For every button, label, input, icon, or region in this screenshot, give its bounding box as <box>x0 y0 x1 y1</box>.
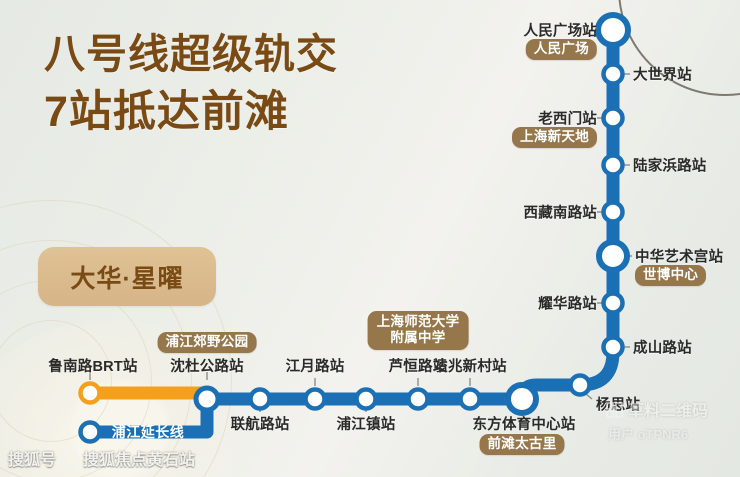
poi-badge-renmin-square: 人民广场 <box>526 39 597 60</box>
poi-badge-pujiang-country-park: 浦江郊野公园 <box>158 332 257 353</box>
station-label-oriental-sports-center: 东方体育中心站 <box>473 413 576 434</box>
station-label-renmin-square: 人民广场站 <box>524 20 598 41</box>
station-label-xizang-south-road: 西藏南路站 <box>524 202 598 223</box>
poi-badge-expo-centre: 世博中心 <box>635 265 706 286</box>
poi-badge-line-1: 上海师范大学 <box>377 314 460 330</box>
poi-badge-shnu-affiliated-school: 上海师范大学 附属中学 <box>368 311 469 350</box>
station-label-luheng-road: 芦恒路站 <box>389 355 448 376</box>
station-label-chengshan-road: 成山路站 <box>633 337 692 358</box>
pujiang-extension-label: 浦江延长线 <box>112 422 185 442</box>
poi-badge-taikoo-li: 前滩太古里 <box>480 434 565 455</box>
poi-badge-xintiandi: 上海新天地 <box>512 127 597 148</box>
station-label-laoximen: 老西门站 <box>538 108 597 129</box>
qr-watermark-title: 草料二维码 <box>628 397 708 421</box>
qr-watermark: 草料二维码 用户 oTPNR6 <box>606 397 708 443</box>
at-symbol-icon <box>60 449 79 468</box>
sohu-watermark-prefix: 搜狐号 <box>8 446 56 470</box>
infographic-canvas: 八号线超级轨交 7站抵达前滩 大华·星曜 <box>0 0 740 477</box>
station-label-shendu-highway: 沈杜公路站 <box>170 355 244 376</box>
sohu-watermark-suffix: 搜狐焦点黄石站 <box>83 446 195 470</box>
station-label-jiangyue-road: 江月路站 <box>286 355 345 376</box>
station-label-dashijie: 大世界站 <box>633 64 692 85</box>
station-label-china-art-museum: 中华艺术宫站 <box>635 246 723 267</box>
sohu-watermark: 搜狐号 搜狐焦点黄石站 <box>8 446 195 470</box>
station-label-lianhang-road: 联航路站 <box>231 413 290 434</box>
station-label-lujiabang-road: 陆家浜路站 <box>633 155 707 176</box>
station-label-pujiang-town: 浦江镇站 <box>337 413 396 434</box>
qr-watermark-user: 用户 oTPNR6 <box>608 424 708 443</box>
qr-code-icon <box>606 402 622 416</box>
poi-badge-line-2: 附属中学 <box>377 330 460 346</box>
station-label-yaohua-road: 耀华路站 <box>538 293 597 314</box>
station-label-lunan-road-brt: 鲁南路BRT站 <box>48 355 137 376</box>
